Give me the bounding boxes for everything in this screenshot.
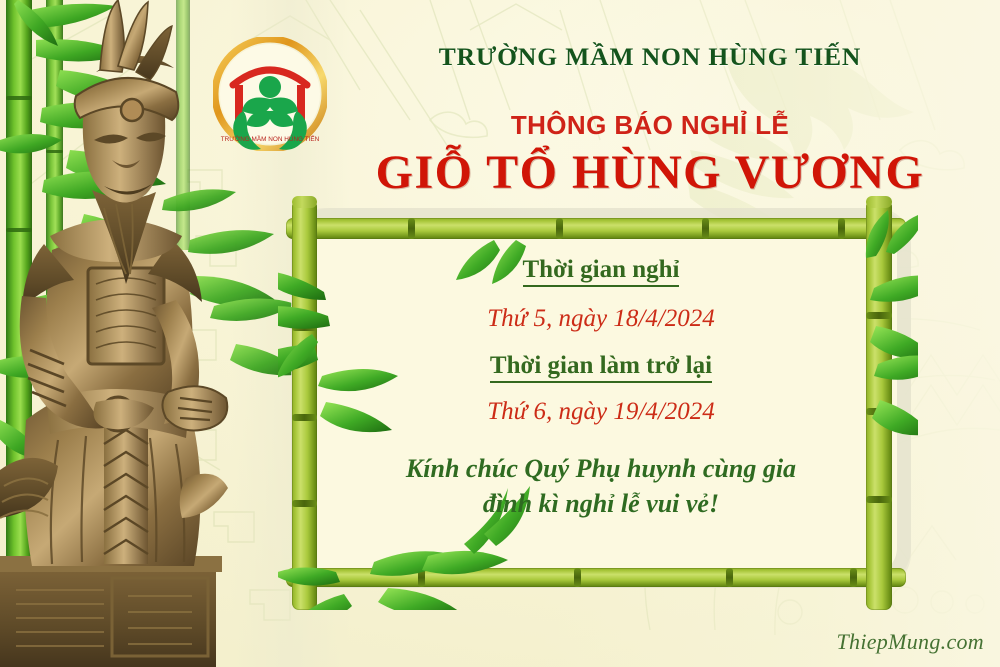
off-date: Thứ 5, ngày 18/4/2024 (305, 305, 897, 333)
return-time-label: Thời gian làm trở lại (305, 352, 897, 380)
notice-heading: THÔNG BÁO NGHỈ LỄ (330, 110, 970, 141)
truong-mam-non-hung-tien-logo: TRƯỜNG MẦM NON HÙNG TIẾN (213, 37, 327, 151)
wish-line-2: đình kì nghỉ lễ vui vẻ! (305, 487, 897, 522)
wish-message: Kính chúc Quý Phụ huynh cùng gia đình kì… (305, 452, 897, 522)
return-date: Thứ 6, ngày 19/4/2024 (305, 398, 897, 426)
off-time-label-text: Thời gian nghỉ (523, 256, 680, 287)
watermark: ThiepMung.com (837, 629, 985, 655)
return-time-label-text: Thời gian làm trở lại (490, 352, 712, 383)
school-name: TRƯỜNG MẦM NON HÙNG TIẾN (330, 42, 970, 72)
off-time-label: Thời gian nghỉ (305, 256, 897, 284)
festival-title: GIỖ TỔ HÙNG VƯƠNG (300, 145, 1000, 200)
hung-king-bronze-statue (0, 0, 228, 667)
greeting-card: TRƯỜNG MẦM NON HÙNG TIẾN TRƯỜNG MẦM NON … (0, 0, 1000, 667)
wish-line-1: Kính chúc Quý Phụ huynh cùng gia (305, 452, 897, 487)
